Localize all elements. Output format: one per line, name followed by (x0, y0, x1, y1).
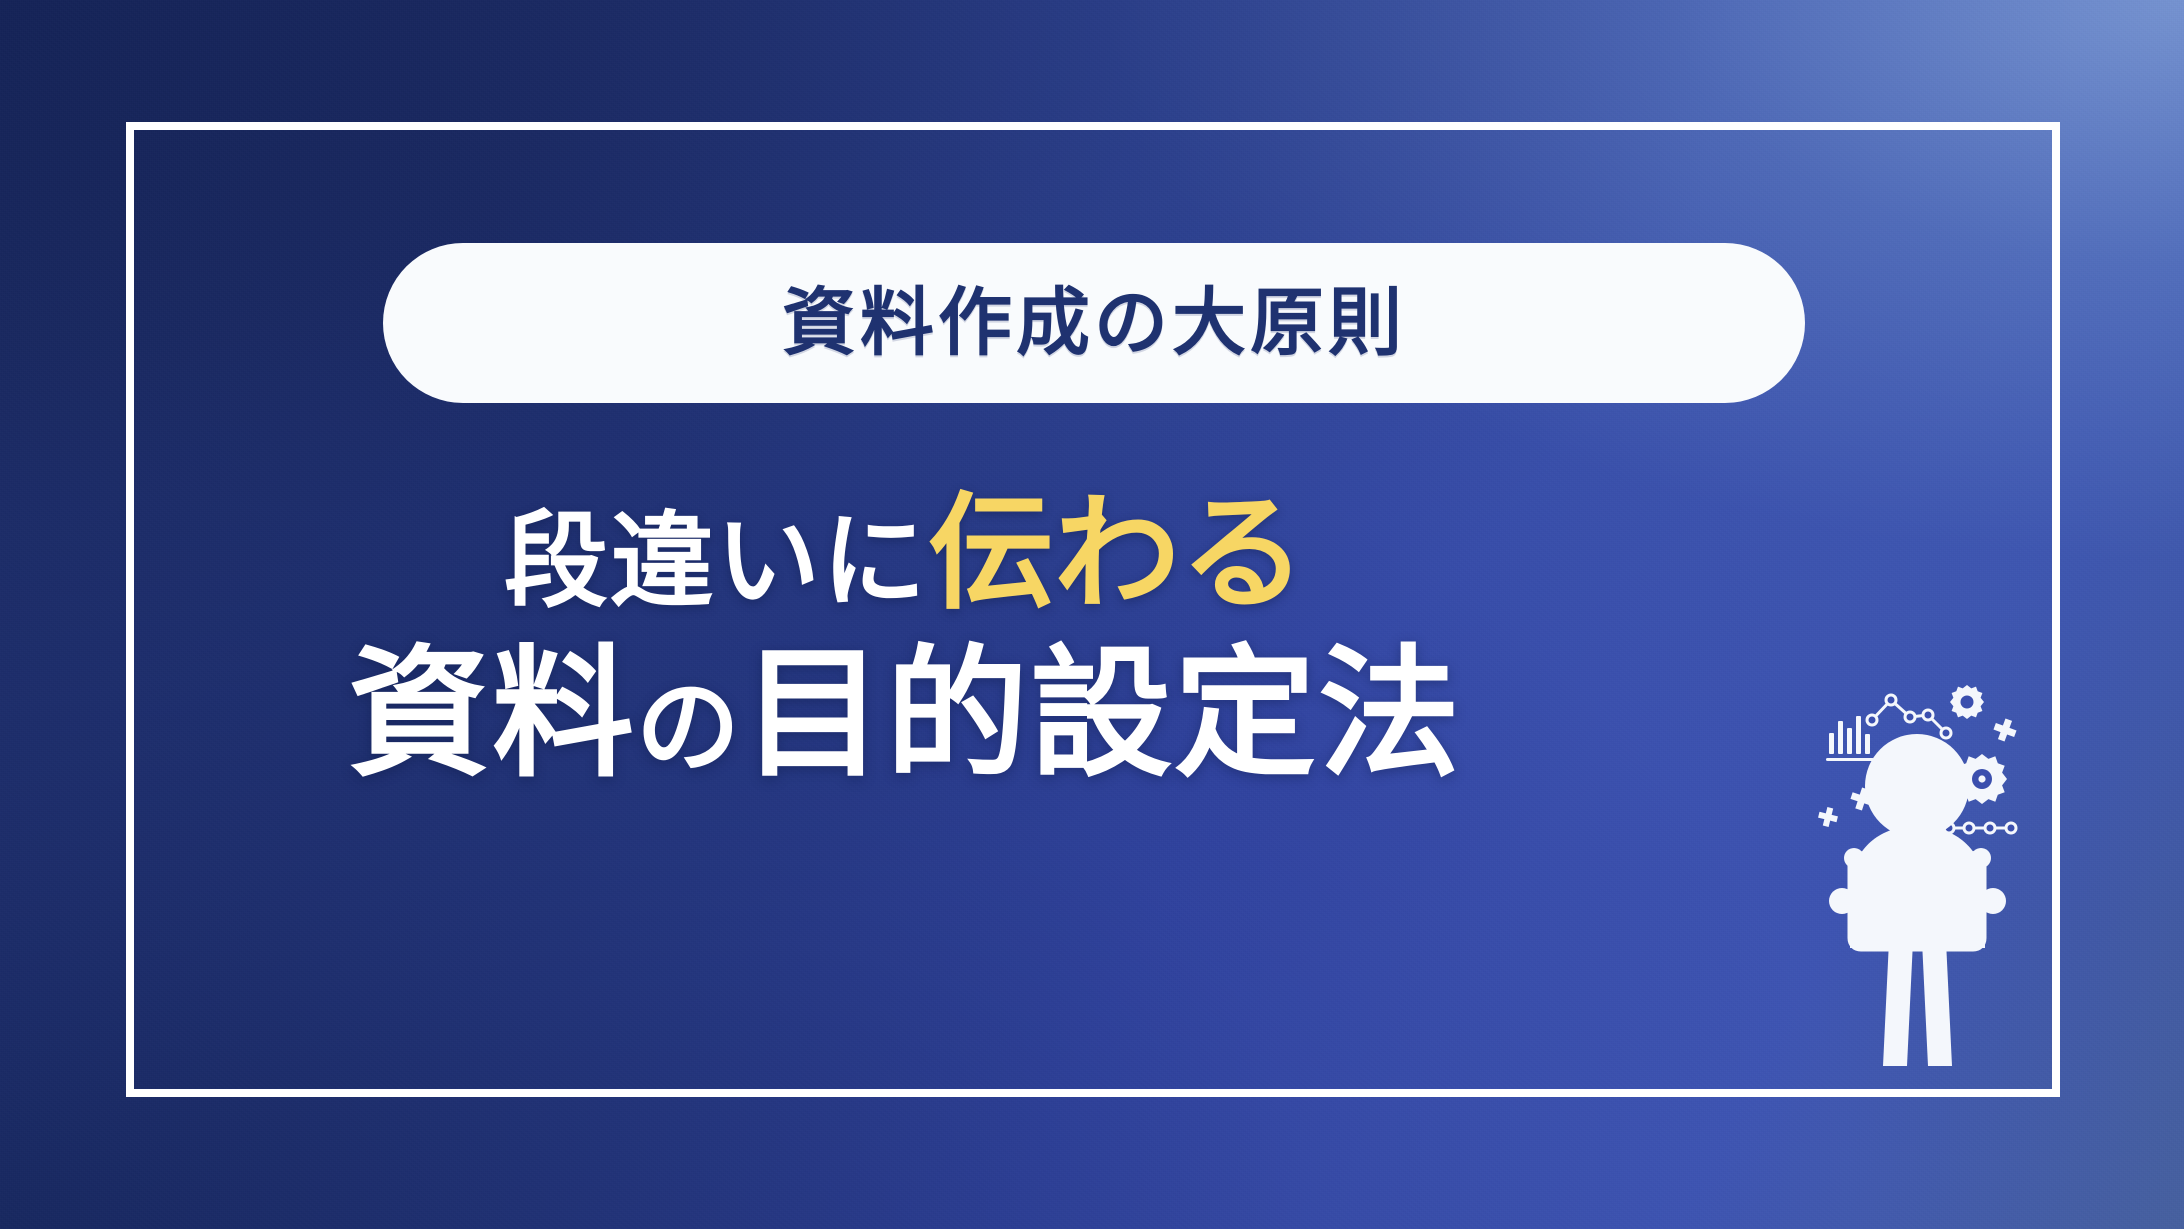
gear-icon (1950, 685, 1984, 719)
headline-line-1: 段違いに伝わる (0, 480, 1810, 629)
person-torso (1850, 826, 1985, 948)
badge-pill: 資料作成の大原則 (383, 243, 1805, 403)
headline-block: 段違いに伝わる 資料の目的設定法 (0, 480, 1810, 794)
headline-line-1-plain: 段違いに (504, 504, 928, 620)
person-holding-document-illustration (1806, 676, 2056, 1066)
slide-canvas: 資料作成の大原則 段違いに伝わる 資料の目的設定法 (0, 0, 2184, 1229)
person-legs (1883, 941, 1952, 1066)
person-head (1865, 734, 1969, 838)
line-chart-icon (1867, 695, 1951, 738)
headline-line-2: 資料の目的設定法 (0, 635, 1810, 794)
headline-line-2-particle: の (636, 670, 742, 786)
badge-label: 資料作成の大原則 (782, 286, 1406, 360)
headline-line-1-accent: 伝わる (928, 483, 1306, 624)
headline-line-2-part1: 資料 (348, 635, 636, 794)
sparkle-icon (1991, 716, 2019, 744)
headline-line-2-part2: 目的設定法 (742, 635, 1462, 794)
sparkle-icon (1816, 805, 1839, 828)
dot-chain-icon (1944, 823, 2016, 833)
